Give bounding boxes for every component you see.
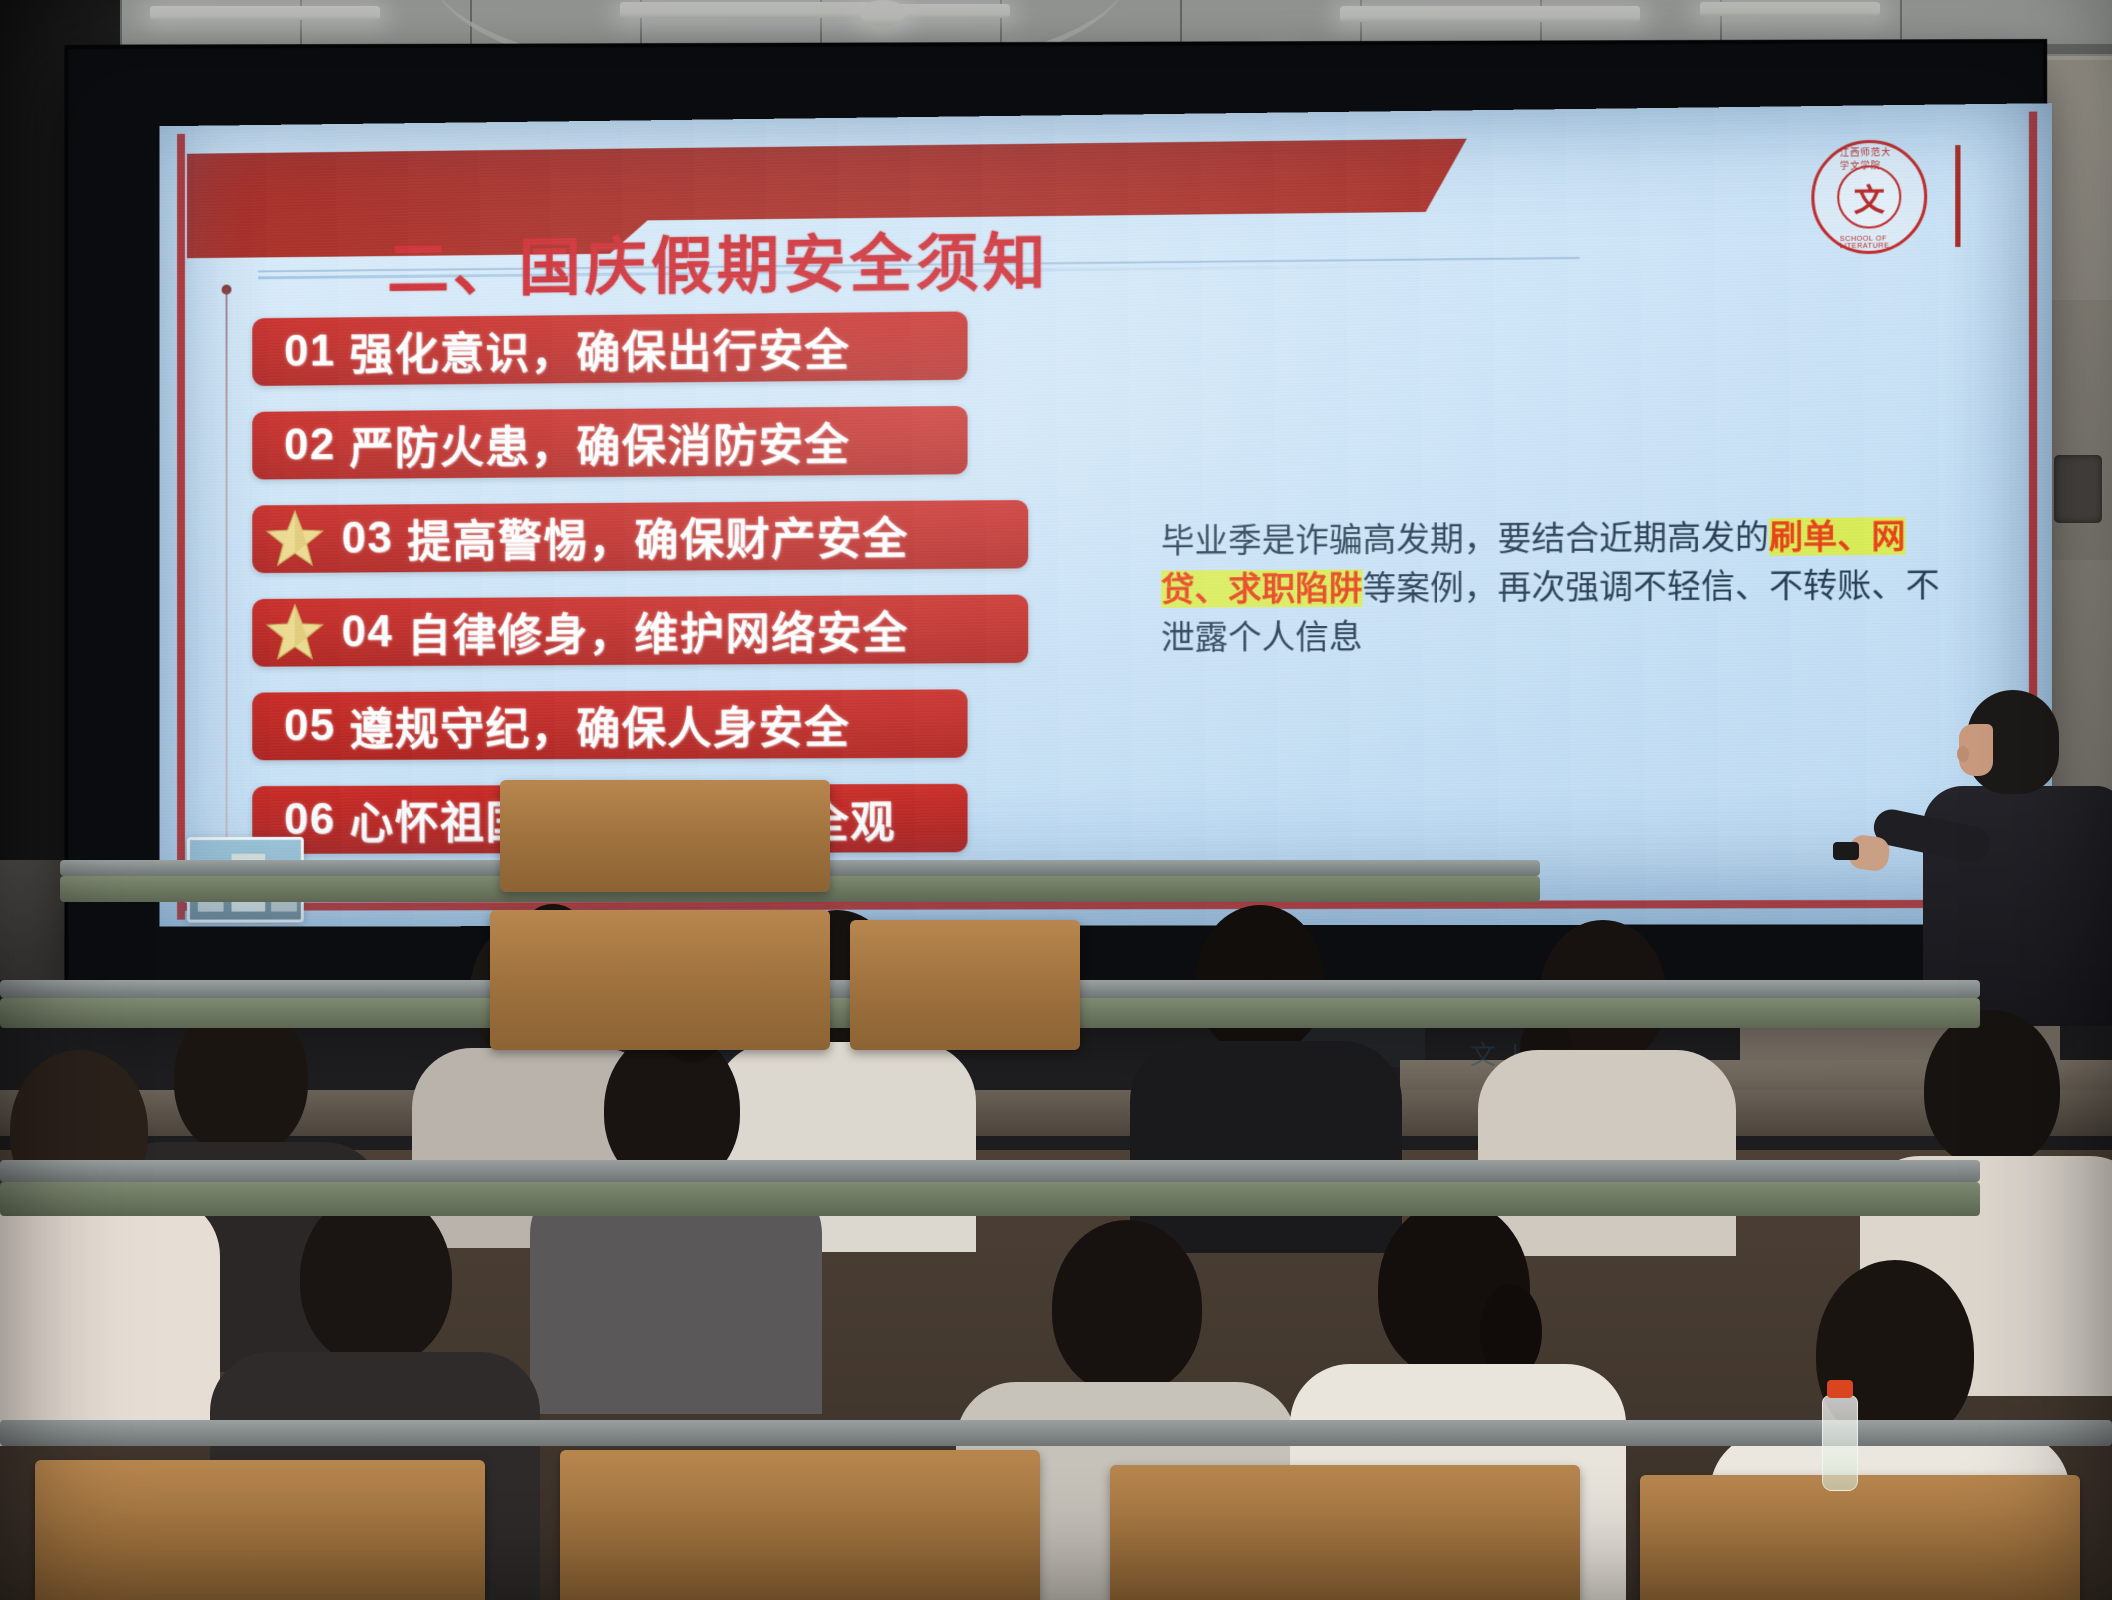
- lecture-hall-scene: 二、国庆假期安全须知 文 江西师范大学文学院 SCHOOL OF LITERAT…: [0, 0, 2112, 1600]
- water-bottle: [1822, 1395, 1858, 1491]
- logo-ring-top: 江西师范大学文学院: [1840, 145, 1899, 172]
- logo-divider-bar: [1955, 145, 1960, 247]
- ceiling-light: [1700, 2, 1880, 16]
- bench-seat-back: [850, 920, 1080, 1050]
- star-icon: [264, 508, 325, 570]
- wall-speaker: [2054, 455, 2102, 523]
- bench-seat-front: [560, 1450, 1040, 1600]
- university-logo: 文 江西师范大学文学院 SCHOOL OF LITERATURE: [1811, 139, 1927, 254]
- slide-title: 二、国庆假期安全须知: [387, 212, 1049, 309]
- audience: [0, 620, 2112, 1600]
- bench-seat-back: [500, 780, 830, 892]
- item-number: 01: [284, 326, 336, 376]
- bench-seat-front: [1640, 1475, 2080, 1600]
- title-banner-strip: [308, 139, 1467, 224]
- bench-back: [0, 1182, 1980, 1216]
- ceiling-light: [150, 6, 380, 20]
- item-label: 严防火患，确保消防安全: [349, 409, 850, 477]
- paragraph-part1: 毕业季是诈骗高发期，要结合近期高发的: [1161, 518, 1769, 559]
- ceiling-spotlight: [860, 0, 906, 26]
- list-item: 03 提高警惕，确保财产安全: [252, 500, 1028, 573]
- bench-rail: [0, 1420, 2112, 1446]
- logo-ring-text: 江西师范大学文学院 SCHOOL OF LITERATURE: [1810, 138, 1928, 255]
- item-number: 02: [284, 420, 336, 470]
- list-item: 01 强化意识，确保出行安全: [252, 311, 967, 386]
- item-number: 03: [342, 513, 394, 563]
- bench-seat-front: [35, 1460, 485, 1600]
- bottle-cap: [1827, 1380, 1853, 1398]
- bench-seat-back: [490, 910, 830, 1050]
- bench-seat-front: [1110, 1465, 1580, 1600]
- logo-ring-bottom: SCHOOL OF LITERATURE: [1840, 235, 1899, 250]
- bench-rail: [0, 1160, 1980, 1182]
- item-label: 提高警惕，确保财产安全: [407, 503, 908, 570]
- ceiling-light: [620, 2, 870, 18]
- paragraph-highlight-2: 求职陷阱: [1228, 569, 1363, 607]
- item-label: 强化意识，确保出行安全: [349, 315, 850, 384]
- ceiling-light: [1340, 6, 1640, 22]
- list-item: 02 严防火患，确保消防安全: [252, 406, 967, 480]
